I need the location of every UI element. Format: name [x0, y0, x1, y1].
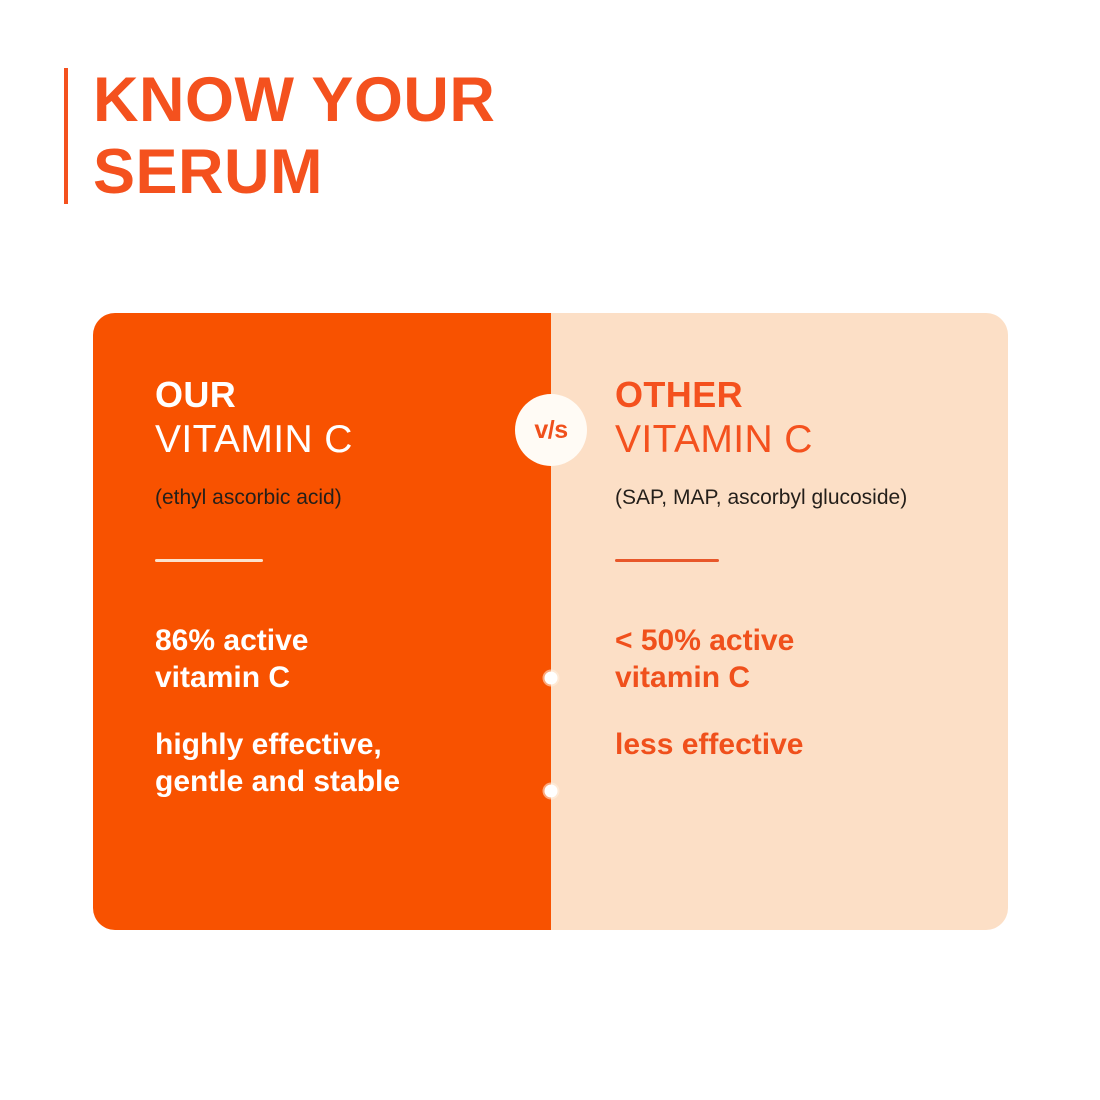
our-subnote: (ethyl ascorbic acid) — [155, 485, 521, 511]
page-title: KNOW YOUR SERUM — [93, 64, 495, 208]
versus-badge-label: v/s — [534, 416, 567, 445]
heading-accent-bar — [64, 68, 68, 204]
other-point-1: < 50% active vitamin C — [615, 622, 968, 696]
divider-dot-row-1 — [545, 672, 558, 685]
our-point-1: 86% active vitamin C — [155, 622, 521, 696]
other-divider-rule — [615, 559, 719, 562]
panel-our-vitamin-c: OUR VITAMIN C (ethyl ascorbic acid) 86% … — [93, 313, 551, 930]
panel-other-vitamin-c: OTHER VITAMIN C (SAP, MAP, ascorbyl gluc… — [551, 313, 1008, 930]
other-point-2: less effective — [615, 726, 968, 763]
our-title-strong: OUR — [155, 375, 521, 415]
page-heading: KNOW YOUR SERUM — [64, 64, 495, 208]
our-title-light: VITAMIN C — [155, 417, 521, 463]
infographic-page: KNOW YOUR SERUM OUR VITAMIN C (ethyl asc… — [0, 0, 1100, 1100]
versus-badge: v/s — [515, 394, 587, 466]
our-point-2: highly effective, gentle and stable — [155, 726, 521, 800]
other-title-light: VITAMIN C — [615, 417, 968, 463]
our-points-list: 86% active vitamin C highly effective, g… — [155, 622, 521, 800]
other-subnote: (SAP, MAP, ascorbyl glucoside) — [615, 485, 968, 511]
other-title-strong: OTHER — [615, 375, 968, 415]
other-points-list: < 50% active vitamin C less effective — [615, 622, 968, 763]
our-divider-rule — [155, 559, 263, 562]
divider-dot-row-2 — [545, 785, 558, 798]
